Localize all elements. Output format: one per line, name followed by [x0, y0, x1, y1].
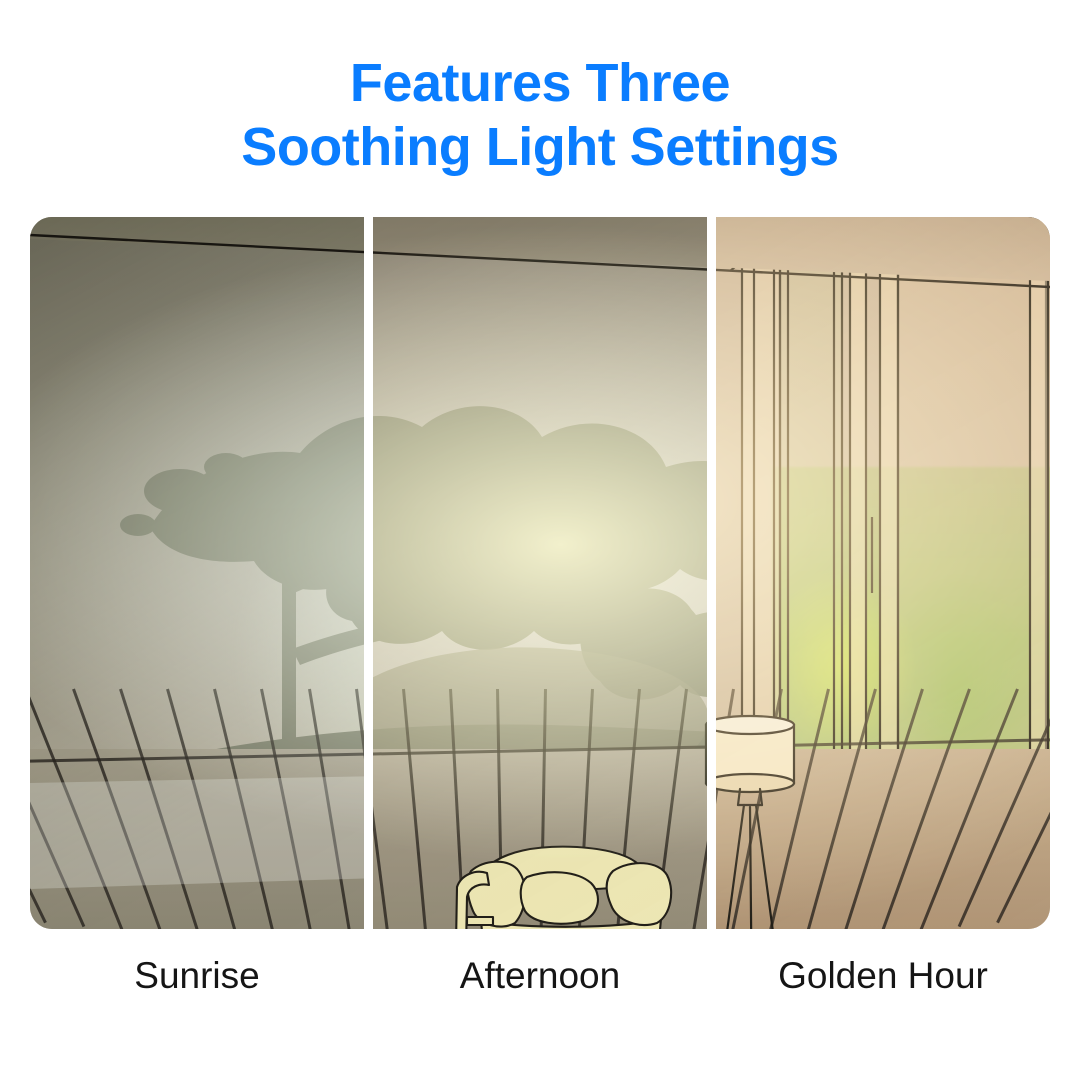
- panel-golden-hour[interactable]: [716, 217, 1050, 929]
- ceiling-edge-line: [716, 217, 1050, 295]
- headline-line-1: Features Three: [0, 52, 1080, 116]
- ceiling-edge-line: [373, 217, 707, 295]
- bench-sofa-icon: [445, 825, 700, 929]
- caption-afternoon: Afternoon: [373, 955, 707, 997]
- floor-lamp-icon: [690, 709, 707, 929]
- scene-afternoon: [373, 217, 707, 929]
- deck-planks: [30, 749, 364, 929]
- caption-sunrise: Sunrise: [30, 955, 364, 997]
- page-title: Features Three Soothing Light Settings: [0, 52, 1080, 179]
- scene-sunrise: [30, 217, 364, 929]
- floor-lamp-icon: [716, 709, 810, 929]
- scene-golden-hour: [716, 217, 1050, 929]
- panel-afternoon[interactable]: [373, 217, 707, 929]
- caption-golden-hour: Golden Hour: [716, 955, 1050, 997]
- ceiling-edge-line: [30, 217, 364, 295]
- promo-graphic: Features Three Soothing Light Settings: [0, 0, 1080, 1080]
- headline-line-2: Soothing Light Settings: [0, 116, 1080, 180]
- caption-row: Sunrise Afternoon Golden Hour: [30, 955, 1050, 997]
- panel-sunrise[interactable]: [30, 217, 364, 929]
- deck-floor: [30, 749, 364, 929]
- light-settings-gallery: [30, 217, 1050, 929]
